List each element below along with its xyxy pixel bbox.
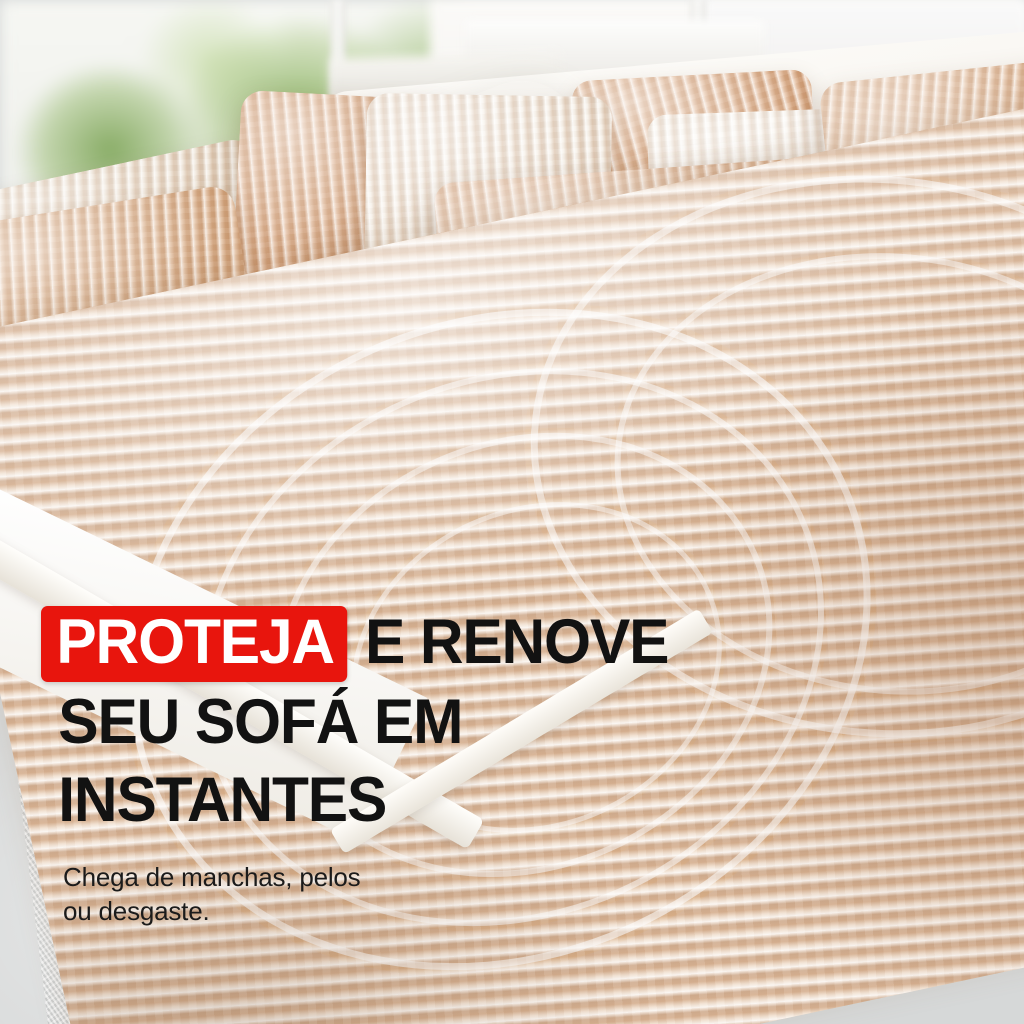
ad-copy-block: PROTEJA E RENOVE SEU SOFÁ EM INSTANTES C… xyxy=(41,606,801,928)
subheadline-line-1: Chega de manchas, pelos xyxy=(63,860,463,894)
headline-line-3: INSTANTES xyxy=(41,764,771,836)
subheadline-line-2: ou desgaste. xyxy=(63,894,463,928)
headline-line-2: SEU SOFÁ EM xyxy=(41,686,771,758)
headline-line-1: PROTEJA E RENOVE xyxy=(41,606,771,690)
subheadline: Chega de manchas, pelos ou desgaste. xyxy=(63,860,463,928)
headline: PROTEJA E RENOVE SEU SOFÁ EM INSTANTES xyxy=(41,606,801,836)
badge-proteja: PROTEJA xyxy=(41,606,347,682)
headline-line-1-rest: E RENOVE xyxy=(349,607,668,677)
product-ad-creative: PROTEJA E RENOVE SEU SOFÁ EM INSTANTES C… xyxy=(0,0,1024,1024)
